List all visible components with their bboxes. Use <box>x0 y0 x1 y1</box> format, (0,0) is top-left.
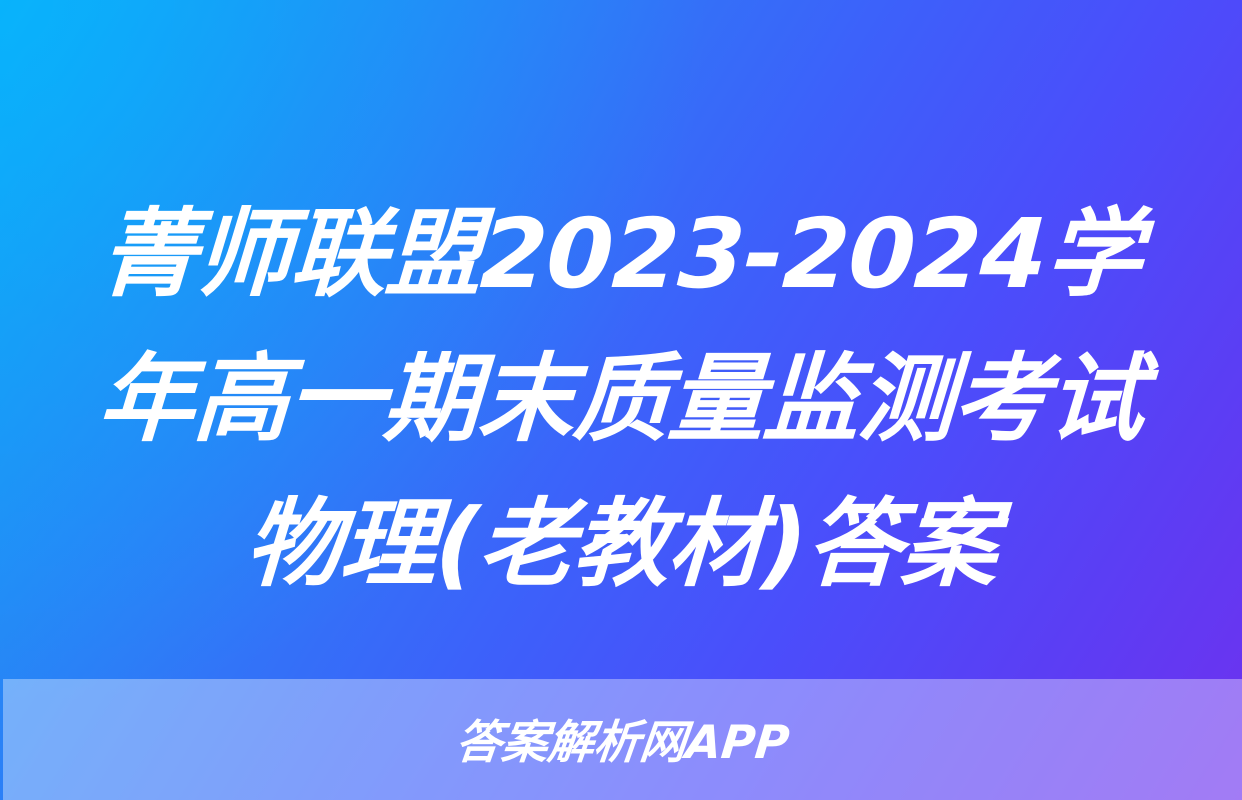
title-line-2: 年高一期末质量监测考试 <box>14 327 1228 472</box>
footer-watermark-band: 答案解析网APP <box>3 679 1242 800</box>
title-line-3: 物理(老教材)答案 <box>14 472 1228 617</box>
page-title: 菁师联盟2023-2024学 年高一期末质量监测考试 物理(老教材)答案 <box>0 182 1242 617</box>
watermark-label: 答案解析网APP <box>454 719 792 765</box>
title-line-1: 菁师联盟2023-2024学 <box>14 182 1228 327</box>
poster-canvas: 菁师联盟2023-2024学 年高一期末质量监测考试 物理(老教材)答案 答案解… <box>0 0 1242 800</box>
